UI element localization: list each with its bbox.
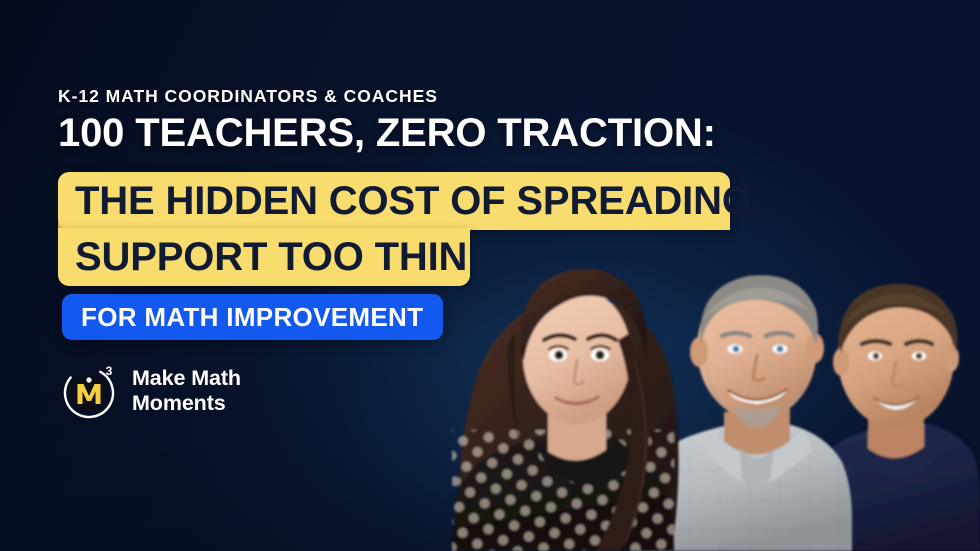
brand-logo: 3 Make Math Moments bbox=[62, 362, 241, 420]
headline-highlight-line-1: THE HIDDEN COST OF SPREADING bbox=[58, 172, 730, 230]
eyebrow-audience-label: K-12 MATH COORDINATORS & COACHES bbox=[58, 86, 438, 107]
brand-wordmark: Make Math Moments bbox=[132, 366, 241, 417]
logo-superscript-3: 3 bbox=[106, 364, 113, 378]
promo-graphic: K-12 MATH COORDINATORS & COACHES 100 TEA… bbox=[0, 0, 980, 551]
topic-badge: FOR MATH IMPROVEMENT bbox=[62, 294, 443, 340]
headline-highlight-line-2: SUPPORT TOO THIN bbox=[58, 228, 470, 286]
brand-wordmark-line-1: Make Math bbox=[132, 366, 241, 390]
headline-line-1: 100 TEACHERS, ZERO TRACTION: bbox=[58, 110, 716, 157]
brand-wordmark-line-2: Moments bbox=[132, 391, 226, 415]
make-math-moments-m3-icon: 3 bbox=[62, 362, 120, 420]
